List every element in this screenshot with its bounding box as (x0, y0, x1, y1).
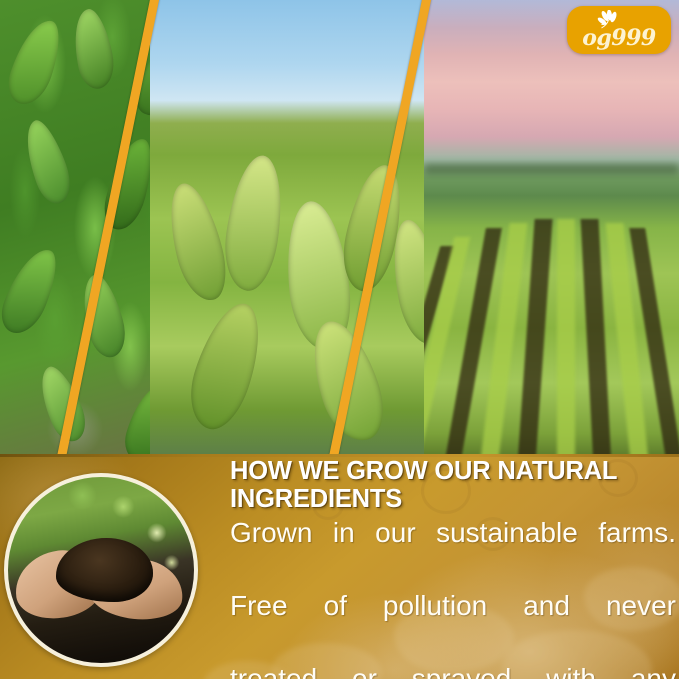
logo-wordmark: og999 (567, 27, 671, 49)
soil-clump (56, 538, 153, 601)
soil-hands-photo (4, 473, 198, 667)
brand-logo[interactable]: og999 (567, 6, 671, 54)
banner-headline: HOW WE GROW OUR NATURAL INGREDIENTS (230, 458, 676, 513)
leaf-shape (0, 242, 65, 340)
banner-body-line-3: treated or sprayed with any (230, 661, 676, 679)
hero-panel-plantation (424, 0, 679, 456)
banner-body: Grown in our sustainable farms. Free of … (230, 515, 676, 679)
hero-panel-turmeric-field (150, 0, 450, 456)
treeline (424, 164, 679, 174)
leaf-shape (179, 295, 272, 436)
banner-body-line-1: Grown in our sustainable farms. (230, 515, 676, 588)
leaf-shape (16, 115, 77, 207)
soil-furrow (581, 219, 612, 456)
leaf-shape (2, 14, 67, 110)
banner-text-block: HOW WE GROW OUR NATURAL INGREDIENTS Grow… (230, 458, 676, 679)
leaf-shape (67, 6, 119, 92)
leaf-shape (160, 179, 234, 307)
leaf-shape (219, 152, 289, 294)
crop-row (557, 219, 575, 456)
hero-photo-strip (0, 0, 679, 456)
banner-body-line-2: Free of pollution and never (230, 588, 676, 661)
promo-image-canvas: og999 HOW WE GROW OUR NATURAL INGREDIENT… (0, 0, 679, 679)
